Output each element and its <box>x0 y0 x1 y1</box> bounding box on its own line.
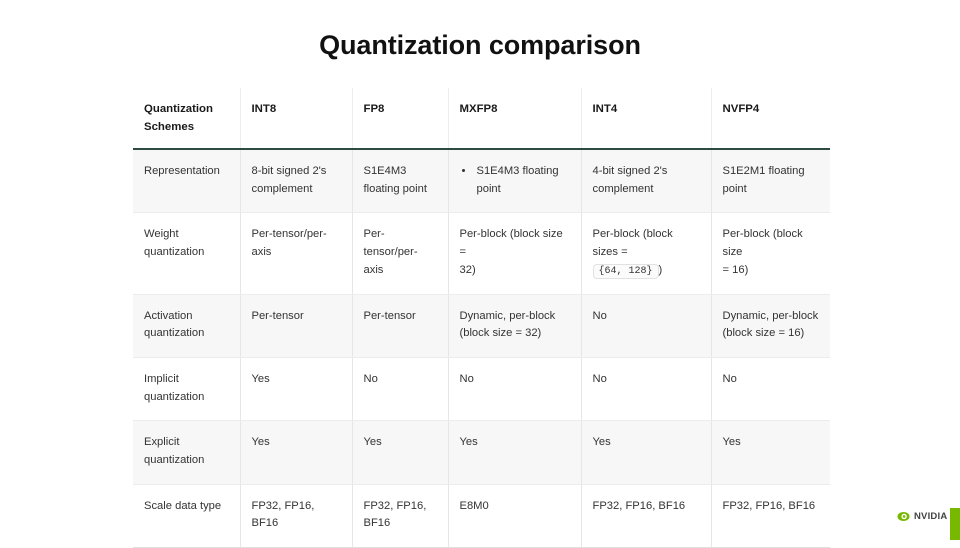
cell-line: Per-block (block sizes <box>593 228 673 258</box>
cell-line: Per-tensor/per- <box>364 226 437 261</box>
cell-line: axis <box>364 262 437 280</box>
cell-line: No <box>593 308 700 326</box>
cell-nvfp4: S1E2M1 floating point <box>711 149 830 213</box>
column-header-scheme: Quantization Schemes <box>133 88 240 149</box>
cell-mxfp8: E8M0 <box>448 484 581 547</box>
column-header-int8: INT8 <box>240 88 352 149</box>
table-row: Scale data type FP32, FP16, BF16 FP32, F… <box>133 484 830 547</box>
cell-fp8: S1E4M3 floating point <box>352 149 448 213</box>
column-header-mxfp8: MXFP8 <box>448 88 581 149</box>
column-header-int4: INT4 <box>581 88 711 149</box>
cell-nvfp4: Dynamic, per-block (block size = 16) <box>711 294 830 357</box>
cell-line: 32) <box>460 262 570 280</box>
cell-line: No <box>364 371 437 389</box>
cell-line: complement <box>593 181 700 199</box>
cell-line: E8M0 <box>460 498 570 516</box>
cell-fp8: FP32, FP16, BF16 <box>352 484 448 547</box>
nvidia-logo: NVIDIA <box>896 511 947 522</box>
row-label: Implicit quantization <box>133 357 240 420</box>
cell-line: No <box>723 371 820 389</box>
cell-mxfp8: Per-block (block size = 32) <box>448 213 581 294</box>
cell-int4: Yes <box>581 421 711 484</box>
cell-int4: No <box>581 357 711 420</box>
cell-int8: Yes <box>240 421 352 484</box>
cell-int8: 8-bit signed 2's complement <box>240 149 352 213</box>
cell-int4: Per-block (block sizes = {64, 128}) <box>581 213 711 294</box>
cell-line: S1E2M1 floating <box>723 163 820 181</box>
cell-int8: FP32, FP16, BF16 <box>240 484 352 547</box>
cell-line: No <box>593 371 700 389</box>
nvidia-wordmark: NVIDIA <box>914 512 947 522</box>
cell-int4: FP32, FP16, BF16 <box>581 484 711 547</box>
cell-nvfp4: Per-block (block size = 16) <box>711 213 830 294</box>
cell-equals: = <box>621 246 628 258</box>
cell-line: complement <box>252 181 341 199</box>
column-header-nvfp4: NVFP4 <box>711 88 830 149</box>
cell-int4: No <box>581 294 711 357</box>
cell-line: Yes <box>723 434 820 452</box>
cell-nvfp4: FP32, FP16, BF16 <box>711 484 830 547</box>
cell-line: = 16) <box>723 262 820 280</box>
cell-line: FP32, FP16, <box>364 498 437 516</box>
accent-bar <box>950 508 960 540</box>
bullet-list: S1E4M3 floating point <box>460 163 570 198</box>
cell-line: Per-tensor <box>252 308 341 326</box>
cell-line: FP32, FP16, BF16 <box>252 498 341 533</box>
cell-line: (block size = 32) <box>460 325 570 343</box>
cell-line: Dynamic, per-block <box>723 308 820 326</box>
quantization-comparison-table: Quantization Schemes INT8 FP8 MXFP8 INT4… <box>133 88 830 548</box>
cell-int8: Yes <box>240 357 352 420</box>
table-row: Weight quantization Per-tensor/per-axis … <box>133 213 830 294</box>
cell-int4: 4-bit signed 2's complement <box>581 149 711 213</box>
cell-line: Yes <box>460 434 570 452</box>
cell-line: 8-bit signed 2's <box>252 163 341 181</box>
column-header-fp8: FP8 <box>352 88 448 149</box>
cell-int8: Per-tensor/per-axis <box>240 213 352 294</box>
cell-fp8: Per-tensor/per- axis <box>352 213 448 294</box>
cell-line: Per-block (block size <box>723 226 820 261</box>
cell-mxfp8: Dynamic, per-block (block size = 32) <box>448 294 581 357</box>
cell-nvfp4: No <box>711 357 830 420</box>
quantization-comparison-table-wrapper: Quantization Schemes INT8 FP8 MXFP8 INT4… <box>133 88 830 548</box>
cell-fp8: Yes <box>352 421 448 484</box>
nvidia-eye-icon <box>896 511 911 522</box>
cell-line: Yes <box>364 434 437 452</box>
cell-line: FP32, FP16, BF16 <box>593 498 700 516</box>
cell-mxfp8: Yes <box>448 421 581 484</box>
table-row: Implicit quantization Yes No No No No <box>133 357 830 420</box>
cell-paren: ) <box>659 264 663 276</box>
cell-line: floating point <box>364 181 437 199</box>
row-label: Explicit quantization <box>133 421 240 484</box>
table-row: Activation quantization Per-tensor Per-t… <box>133 294 830 357</box>
cell-line: Yes <box>252 371 341 389</box>
list-item: S1E4M3 floating point <box>475 163 570 198</box>
cell-mxfp8: S1E4M3 floating point <box>448 149 581 213</box>
row-label: Weight quantization <box>133 213 240 294</box>
row-label: Scale data type <box>133 484 240 547</box>
cell-line: FP32, FP16, BF16 <box>723 498 820 516</box>
cell-mxfp8: No <box>448 357 581 420</box>
cell-fp8: No <box>352 357 448 420</box>
cell-line: Per-tensor/per-axis <box>252 226 341 261</box>
table-body: Representation 8-bit signed 2's compleme… <box>133 149 830 548</box>
cell-line: Per-tensor <box>364 308 437 326</box>
cell-line: (block size = 16) <box>723 325 820 343</box>
table-row: Representation 8-bit signed 2's compleme… <box>133 149 830 213</box>
cell-line: S1E4M3 <box>364 163 437 181</box>
block-sizes-code: {64, 128} <box>593 264 659 279</box>
page-title: Quantization comparison <box>0 30 960 61</box>
cell-line: Per-block (block size = <box>460 226 570 261</box>
cell-line: 4-bit signed 2's <box>593 163 700 181</box>
table-header: Quantization Schemes INT8 FP8 MXFP8 INT4… <box>133 88 830 149</box>
table-row: Explicit quantization Yes Yes Yes Yes Ye… <box>133 421 830 484</box>
cell-line: Dynamic, per-block <box>460 308 570 326</box>
cell-line: No <box>460 371 570 389</box>
cell-line: BF16 <box>364 515 437 533</box>
cell-line: point <box>723 181 820 199</box>
row-label: Representation <box>133 149 240 213</box>
cell-int8: Per-tensor <box>240 294 352 357</box>
row-label: Activation quantization <box>133 294 240 357</box>
cell-line: Yes <box>593 434 700 452</box>
cell-nvfp4: Yes <box>711 421 830 484</box>
slide-canvas: Quantization comparison Quantization Sch… <box>0 0 960 540</box>
table-header-row: Quantization Schemes INT8 FP8 MXFP8 INT4… <box>133 88 830 149</box>
cell-line: Yes <box>252 434 341 452</box>
cell-fp8: Per-tensor <box>352 294 448 357</box>
